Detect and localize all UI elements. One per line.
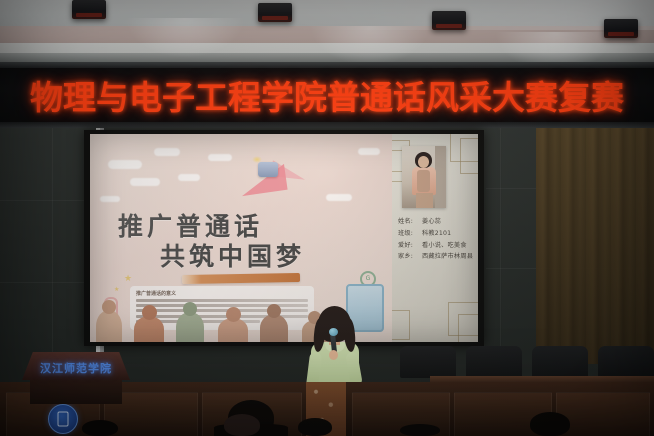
child-head bbox=[102, 300, 116, 314]
info-value: 科教2101 bbox=[422, 228, 476, 240]
cloud-icon bbox=[208, 154, 232, 161]
led-banner-text: 物理与电子工程学院普通话风采大赛复赛 bbox=[30, 71, 624, 119]
podium: 汉江师范学院 bbox=[22, 352, 130, 404]
university-emblem-icon bbox=[48, 404, 78, 434]
cloud-icon bbox=[100, 196, 120, 202]
projection-screen: 推广普通话 共筑中国梦 ★ ★ G 推广普通话的意义 bbox=[90, 134, 478, 342]
child-head bbox=[142, 305, 157, 320]
info-row: 姓名: 姜心蕊 bbox=[398, 216, 476, 228]
info-value: 看小说、吃美食 bbox=[422, 240, 476, 252]
cloud-icon bbox=[154, 148, 180, 156]
chair bbox=[598, 346, 654, 378]
info-row: 爱好: 看小说、吃美食 bbox=[398, 240, 476, 252]
child-head bbox=[267, 304, 281, 318]
child-silhouette bbox=[96, 310, 122, 342]
info-key: 班级: bbox=[398, 228, 418, 240]
microphone-head-icon bbox=[329, 328, 338, 336]
pencil-icon bbox=[182, 273, 300, 284]
text-line bbox=[136, 309, 308, 312]
slide-title-line2: 共筑中国梦 bbox=[160, 242, 368, 272]
audience-head bbox=[400, 424, 440, 436]
info-row: 班级: 科教2101 bbox=[398, 228, 476, 240]
child-silhouette bbox=[176, 312, 204, 342]
podium-label: 汉江师范学院 bbox=[22, 360, 130, 376]
chair bbox=[532, 346, 588, 378]
ceiling-stage-light-icon bbox=[72, 0, 106, 19]
portrait-vest bbox=[417, 170, 430, 192]
info-key: 家乡: bbox=[398, 251, 418, 263]
ceiling-stage-light-icon bbox=[258, 3, 292, 22]
speaker-hand bbox=[329, 350, 338, 360]
audience-head bbox=[298, 418, 332, 436]
text-line bbox=[136, 304, 308, 307]
paper-airplane-body bbox=[258, 162, 278, 177]
stage-panel bbox=[556, 392, 650, 436]
info-value: 姜心蕊 bbox=[422, 216, 476, 228]
decorative-frame bbox=[460, 138, 478, 174]
auditorium-scene: 物理与电子工程学院普通话风采大赛复赛 推广普通话 bbox=[0, 0, 654, 436]
child-silhouette bbox=[260, 314, 288, 342]
info-row: 家乡: 西藏拉萨市林周县 bbox=[398, 251, 476, 263]
slide-body-heading: 推广普通话的意义 bbox=[136, 290, 308, 297]
cloud-icon bbox=[358, 148, 380, 155]
info-value: 西藏拉萨市林周县 bbox=[422, 251, 476, 263]
portrait-legs bbox=[416, 193, 433, 208]
podium-base bbox=[30, 380, 122, 404]
ceiling-shadow-edge bbox=[0, 53, 654, 62]
slide-title: 推广普通话 共筑中国梦 bbox=[118, 212, 368, 271]
ceiling-stage-light-icon bbox=[432, 11, 466, 30]
star-icon: ★ bbox=[124, 274, 132, 284]
cloud-icon bbox=[108, 160, 142, 169]
cloud-icon bbox=[130, 178, 160, 186]
cloud-icon bbox=[326, 194, 352, 201]
ceiling-lower-band bbox=[0, 43, 654, 53]
child-head bbox=[226, 307, 241, 322]
chair bbox=[466, 346, 522, 378]
decorative-frame bbox=[458, 314, 478, 342]
wall-seam bbox=[52, 128, 53, 358]
audience-head bbox=[530, 412, 570, 436]
led-banner: 物理与电子工程学院普通话风采大赛复赛 bbox=[0, 62, 654, 128]
wall-wood-shading bbox=[536, 128, 654, 364]
portrait-face bbox=[418, 156, 429, 168]
slide-title-line1: 推广普通话 bbox=[118, 212, 263, 241]
cloud-icon bbox=[178, 174, 200, 181]
info-list: 姓名: 姜心蕊 班级: 科教2101 爱好: 看小说、吃美食 家乡: 西藏拉萨市… bbox=[398, 216, 476, 263]
contestant-portrait bbox=[402, 146, 446, 208]
audience-head bbox=[82, 420, 118, 436]
text-line bbox=[136, 299, 308, 302]
chair bbox=[400, 346, 456, 378]
stage-chairs bbox=[430, 346, 654, 380]
child-head bbox=[183, 302, 197, 316]
audience-head bbox=[224, 414, 260, 436]
info-key: 爱好: bbox=[398, 240, 418, 252]
info-key: 姓名: bbox=[398, 216, 418, 228]
portrait-doorframe bbox=[435, 146, 446, 208]
wall-seam bbox=[500, 128, 501, 348]
sparkle-icon bbox=[252, 156, 262, 163]
slide-info-panel: 姓名: 姜心蕊 班级: 科教2101 爱好: 看小说、吃美食 家乡: 西藏拉萨市… bbox=[392, 134, 478, 342]
ceiling-stage-light-icon bbox=[604, 19, 638, 38]
star-icon: ★ bbox=[114, 286, 119, 293]
decorative-frame bbox=[392, 310, 410, 340]
